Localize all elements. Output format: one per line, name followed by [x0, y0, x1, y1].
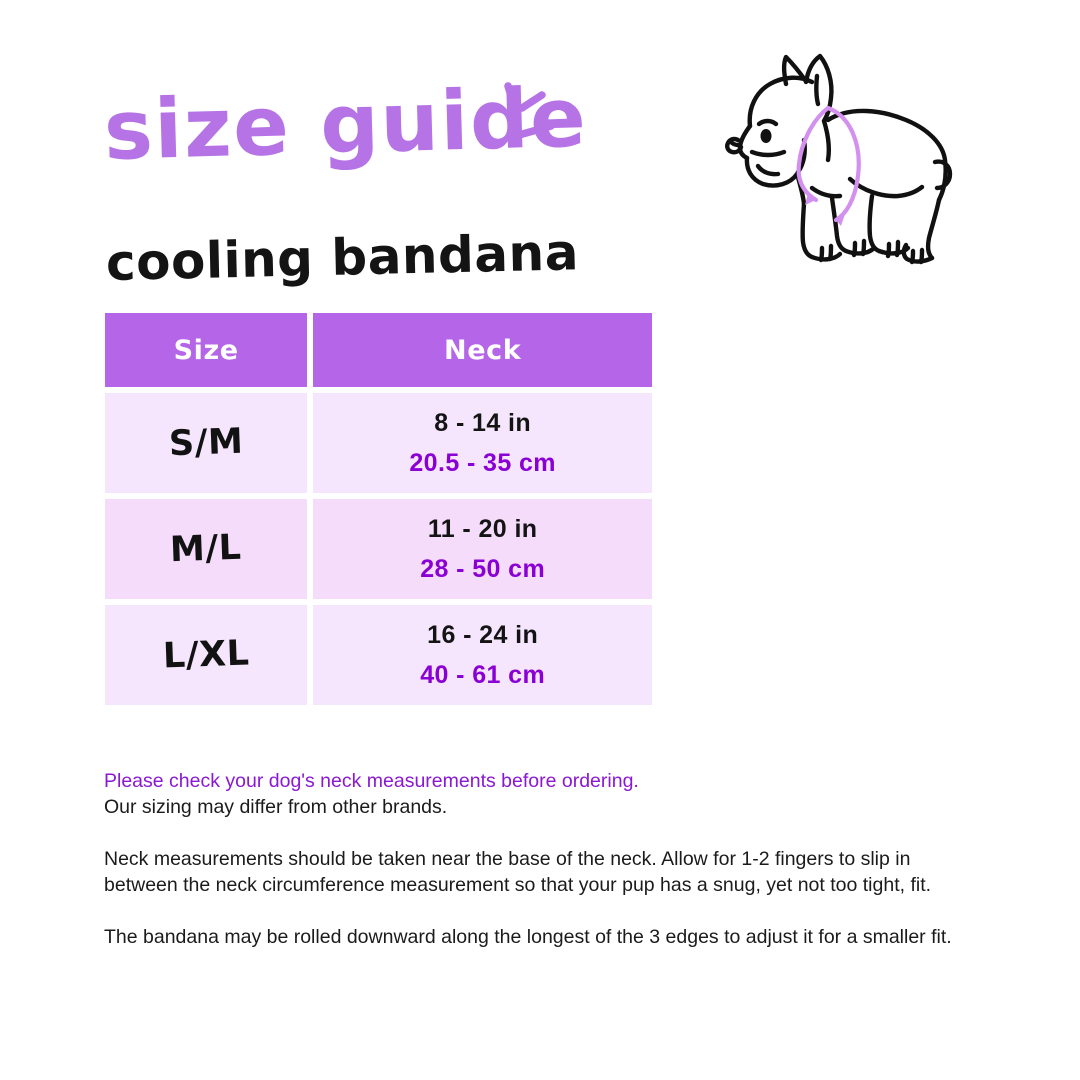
- note-spacer: [104, 820, 984, 846]
- size-label: M/L: [170, 528, 243, 570]
- cell-neck: 8 - 14 in 20.5 - 35 cm: [313, 393, 652, 493]
- note-highlight: Please check your dog's neck measurement…: [104, 768, 984, 794]
- cell-size: L/XL: [105, 605, 307, 705]
- note-paragraph-measuring: Neck measurements should be taken near t…: [104, 846, 984, 898]
- note-paragraph-rolling: The bandana may be rolled downward along…: [104, 924, 984, 950]
- note-spacer: [104, 898, 984, 924]
- french-bulldog-illustration: [700, 48, 972, 284]
- table-row: L/XL 16 - 24 in 40 - 61 cm: [105, 605, 652, 705]
- page-title: size guide: [103, 75, 705, 172]
- neck-centimeters: 20.5 - 35 cm: [313, 449, 652, 478]
- table-row: S/M 8 - 14 in 20.5 - 35 cm: [105, 393, 652, 493]
- neck-inches: 16 - 24 in: [313, 621, 652, 650]
- neck-inches: 11 - 20 in: [313, 515, 652, 544]
- neck-centimeters: 40 - 61 cm: [313, 661, 652, 690]
- neck-inches: 8 - 14 in: [313, 409, 652, 438]
- note-subline: Our sizing may differ from other brands.: [104, 794, 984, 820]
- cell-neck: 16 - 24 in 40 - 61 cm: [313, 605, 652, 705]
- size-label: L/XL: [162, 634, 250, 677]
- table-header-row: Size Neck: [105, 313, 652, 387]
- sparkle-dashes-icon: [495, 78, 567, 154]
- cell-neck: 11 - 20 in 28 - 50 cm: [313, 499, 652, 599]
- table-row: M/L 11 - 20 in 28 - 50 cm: [105, 499, 652, 599]
- cell-size: M/L: [105, 499, 307, 599]
- neck-centimeters: 28 - 50 cm: [313, 555, 652, 584]
- size-guide-page: size guide cooling bandana: [0, 0, 1080, 1080]
- cell-size: S/M: [105, 393, 307, 493]
- page-subtitle: cooling bandana: [105, 225, 704, 289]
- column-header-neck: Neck: [313, 313, 652, 387]
- header-block: size guide cooling bandana: [104, 92, 704, 288]
- column-header-size: Size: [105, 313, 307, 387]
- size-chart-table: Size Neck S/M 8 - 14 in 20.5 - 35 cm M/L: [99, 307, 658, 711]
- size-label: S/M: [168, 422, 244, 465]
- notes-section: Please check your dog's neck measurement…: [104, 768, 984, 950]
